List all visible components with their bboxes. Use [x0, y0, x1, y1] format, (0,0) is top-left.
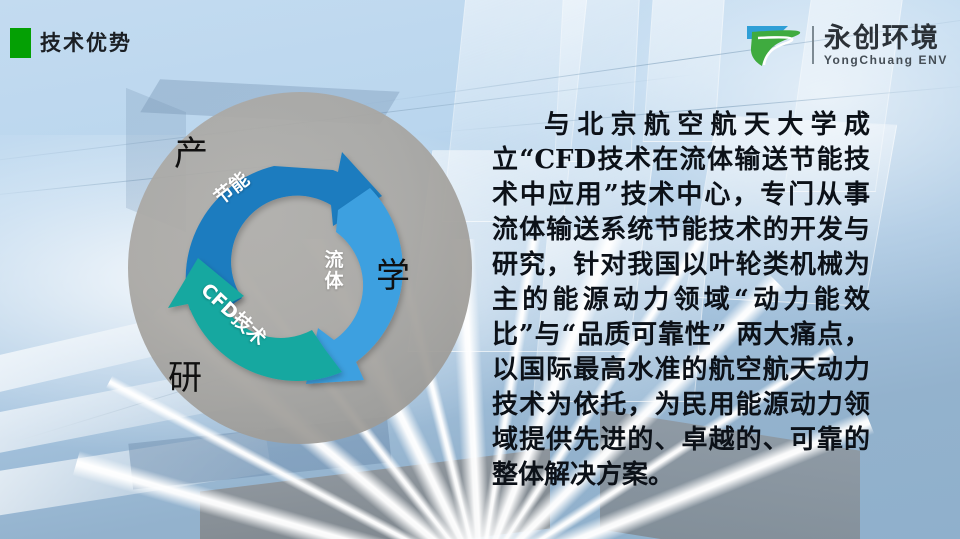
logo-wordmark: 永创环境 YongChuang ENV [824, 24, 948, 67]
logo-name-cn: 永创环境 [824, 24, 948, 53]
diagram-outer-label-yan: 研 [168, 350, 202, 399]
leaf-swoosh-icon [744, 22, 806, 68]
diagram-outer-label-xue: 学 [376, 248, 410, 297]
cycle-diagram: 产 学 研 节能 流体 CFD技术 [128, 92, 472, 444]
logo-name-en: YongChuang ENV [824, 53, 948, 67]
presentation-slide: 技术优势 永创环境 YongChuang ENV [0, 0, 960, 539]
diagram-outer-label-chan: 产 [174, 126, 208, 175]
green-square-icon [10, 28, 31, 58]
logo-divider [812, 26, 814, 64]
company-logo: 永创环境 YongChuang ENV [744, 20, 948, 70]
segment-label-liuti: 流体 [324, 250, 344, 292]
body-paragraph: 与北京航空航天大学成立“CFD技术在流体输送节能技术中应用”技术中心，专门从事流… [492, 108, 870, 493]
page-title: 技术优势 [40, 28, 132, 58]
